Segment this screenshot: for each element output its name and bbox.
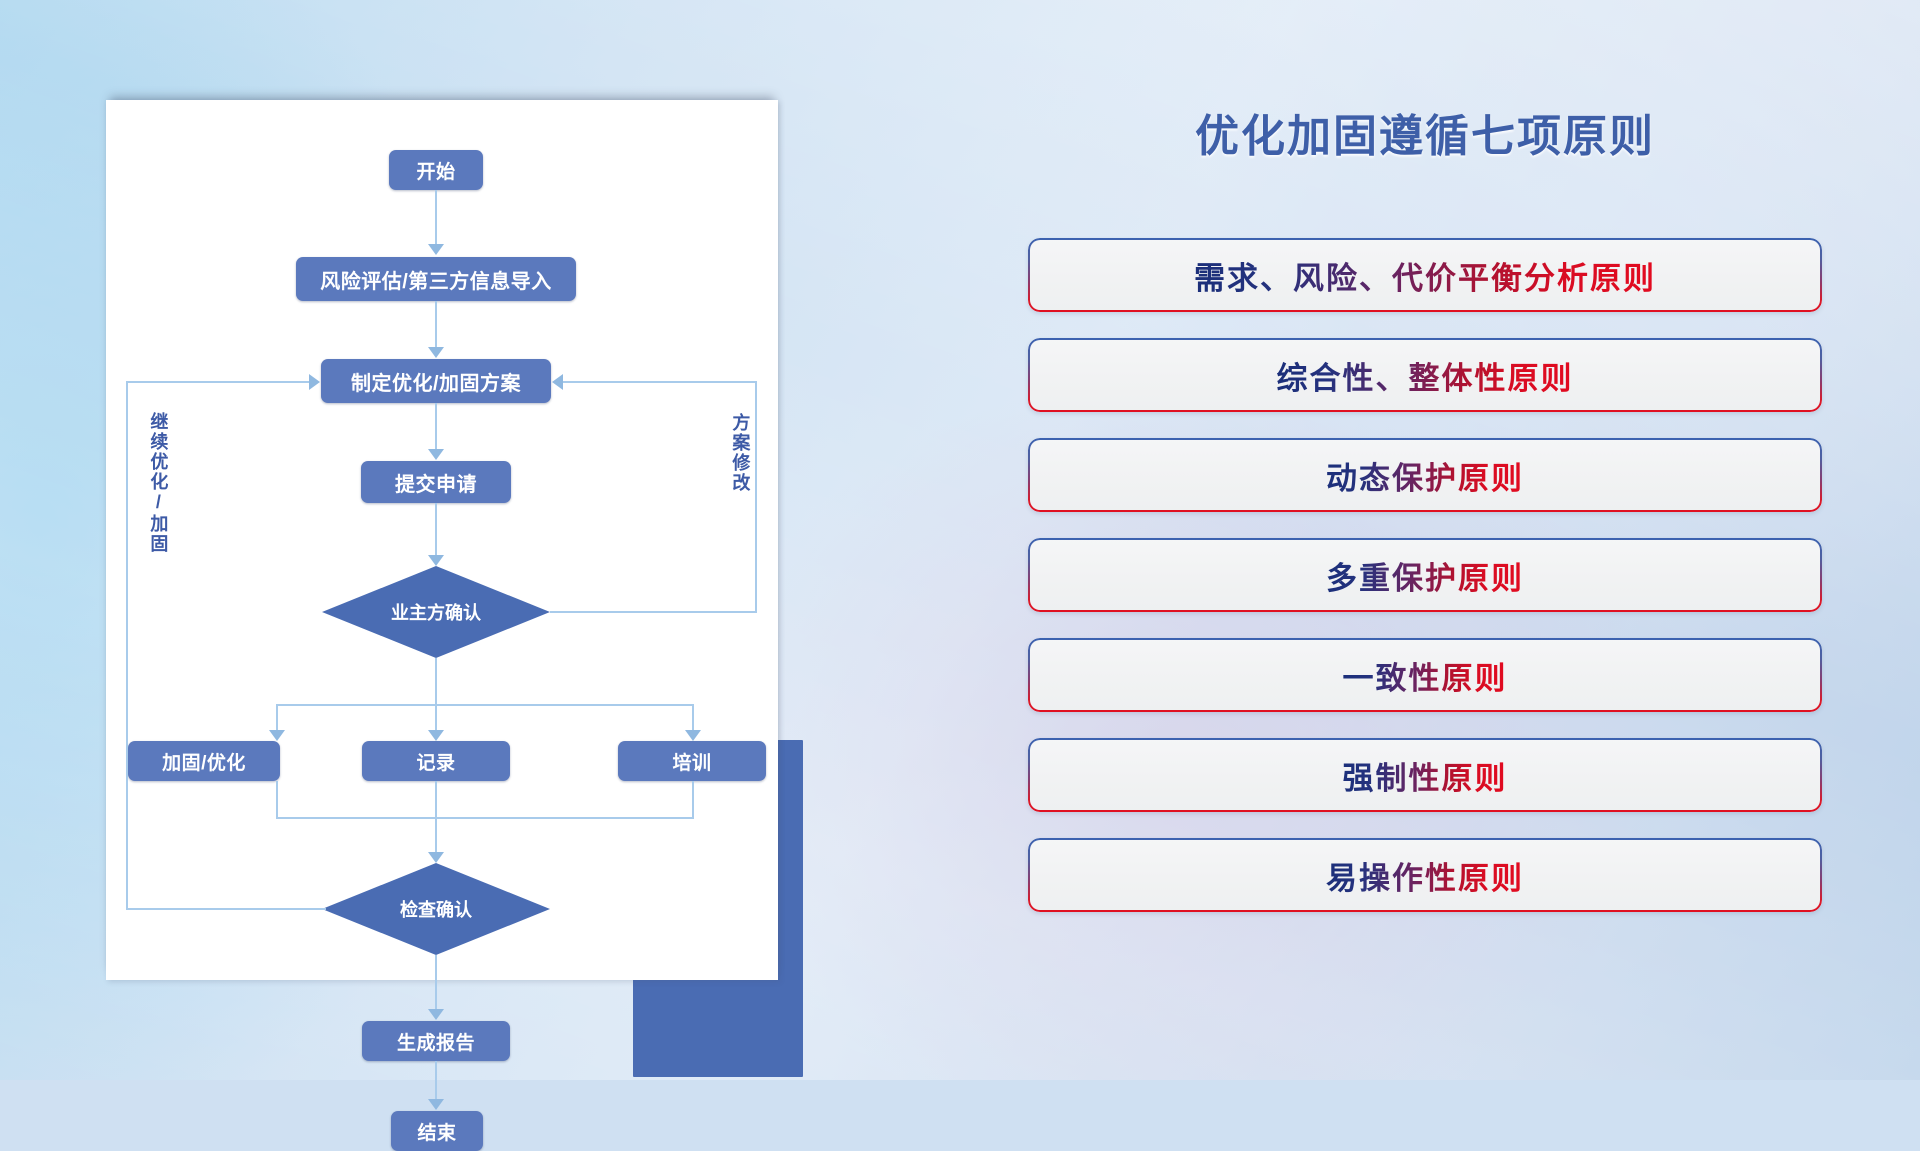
principle-card-label: 综合性、整体性原则	[1277, 353, 1574, 398]
node-make-plan-label: 制定优化/加固方案	[351, 367, 521, 396]
slide-canvas: 开始 风险评估/第三方信息导入 制定优化/加固方案 提交申请	[0, 0, 1920, 1080]
principle-card-label: 强制性原则	[1343, 753, 1508, 798]
edge-submit-to-owner	[435, 503, 437, 561]
edge-start-to-risk	[435, 190, 437, 250]
arrowhead-down-report	[428, 1009, 444, 1020]
principles-list: 需求、风险、代价平衡分析原则 综合性、整体性原则 动态保护原则 多重保护原则 一…	[1028, 238, 1822, 938]
principles-panel: 优化加固遵循七项原则 需求、风险、代价平衡分析原则 综合性、整体性原则 动态保护…	[1010, 100, 1840, 1010]
edge-check-left-up	[126, 381, 128, 910]
edge-training-down	[692, 781, 694, 819]
node-risk-assessment[interactable]: 风险评估/第三方信息导入	[296, 257, 576, 301]
edge-label-plan-revision-text: 方案修改	[730, 413, 750, 493]
arrowhead-down-reinforce	[269, 730, 285, 741]
edge-label-plan-revision: 方案修改	[731, 413, 749, 493]
node-reinforce-optimize-label: 加固/优化	[162, 748, 246, 775]
edge-merge-bar	[276, 817, 694, 819]
arrowhead-down-record	[428, 730, 444, 741]
principle-card[interactable]: 一致性原则	[1028, 638, 1822, 712]
node-start[interactable]: 开始	[389, 150, 483, 190]
edge-check-left-segment	[126, 908, 326, 910]
flowchart-card: 开始 风险评估/第三方信息导入 制定优化/加固方案 提交申请	[106, 100, 778, 980]
node-risk-assessment-label: 风险评估/第三方信息导入	[320, 265, 552, 294]
decision-owner-confirm[interactable]: 业主方确认	[322, 566, 550, 658]
principle-card-label: 易操作性原则	[1326, 853, 1524, 898]
edge-fanout-bar	[276, 704, 694, 706]
edge-record-down	[435, 781, 437, 819]
node-submit-application[interactable]: 提交申请	[361, 461, 511, 503]
node-start-label: 开始	[416, 157, 455, 184]
node-generate-report[interactable]: 生成报告	[362, 1021, 510, 1061]
node-generate-report-label: 生成报告	[397, 1028, 475, 1055]
node-end-label: 结束	[417, 1118, 456, 1145]
edge-owner-down	[435, 658, 437, 706]
arrowhead-right-to-plan	[309, 374, 320, 390]
decision-check-confirm-label: 检查确认	[400, 896, 472, 922]
flowchart-diagram: 开始 风险评估/第三方信息导入 制定优化/加固方案 提交申请	[106, 100, 778, 980]
edge-check-back-to-plan	[126, 381, 310, 383]
edge-owner-right-segment	[550, 611, 757, 613]
edge-check-to-report	[435, 955, 437, 1015]
edge-plan-to-submit	[435, 403, 437, 455]
arrowhead-down-end	[428, 1099, 444, 1110]
principle-card-label: 一致性原则	[1343, 653, 1508, 698]
edge-owner-back-to-plan	[563, 381, 756, 383]
edge-owner-right-up	[755, 381, 757, 612]
arrowhead-down-submit	[428, 449, 444, 460]
principles-title: 优化加固遵循七项原则	[1010, 100, 1840, 164]
principle-card[interactable]: 多重保护原则	[1028, 538, 1822, 612]
decision-check-confirm[interactable]: 检查确认	[322, 863, 550, 955]
arrowhead-down-plan	[428, 347, 444, 358]
principle-card-label: 动态保护原则	[1326, 453, 1524, 498]
edge-risk-to-plan	[435, 301, 437, 353]
node-submit-application-label: 提交申请	[395, 468, 477, 497]
node-end[interactable]: 结束	[391, 1111, 483, 1151]
node-record[interactable]: 记录	[362, 741, 510, 781]
arrowhead-left-to-plan	[552, 374, 563, 390]
node-record-label: 记录	[416, 748, 455, 775]
principle-card-label: 需求、风险、代价平衡分析原则	[1194, 253, 1656, 298]
node-make-plan[interactable]: 制定优化/加固方案	[321, 359, 551, 403]
node-training-label: 培训	[672, 748, 711, 775]
principle-card[interactable]: 综合性、整体性原则	[1028, 338, 1822, 412]
node-reinforce-optimize[interactable]: 加固/优化	[128, 741, 280, 781]
arrowhead-down-owner	[428, 555, 444, 566]
arrowhead-down-check	[428, 852, 444, 863]
flowchart-panel: 开始 风险评估/第三方信息导入 制定优化/加固方案 提交申请	[106, 92, 798, 967]
principle-card[interactable]: 强制性原则	[1028, 738, 1822, 812]
principle-card[interactable]: 易操作性原则	[1028, 838, 1822, 912]
edge-label-continue-optimize: 继续优化/加固	[149, 412, 167, 554]
edge-reinforce-down	[276, 781, 278, 819]
principle-card[interactable]: 动态保护原则	[1028, 438, 1822, 512]
arrowhead-down-training	[685, 730, 701, 741]
node-training[interactable]: 培训	[618, 741, 766, 781]
decision-owner-confirm-label: 业主方确认	[391, 599, 481, 625]
arrowhead-down-risk	[428, 244, 444, 255]
edge-label-continue-optimize-text: 继续优化/加固	[148, 412, 168, 554]
principle-card-label: 多重保护原则	[1326, 553, 1524, 598]
principle-card[interactable]: 需求、风险、代价平衡分析原则	[1028, 238, 1822, 312]
